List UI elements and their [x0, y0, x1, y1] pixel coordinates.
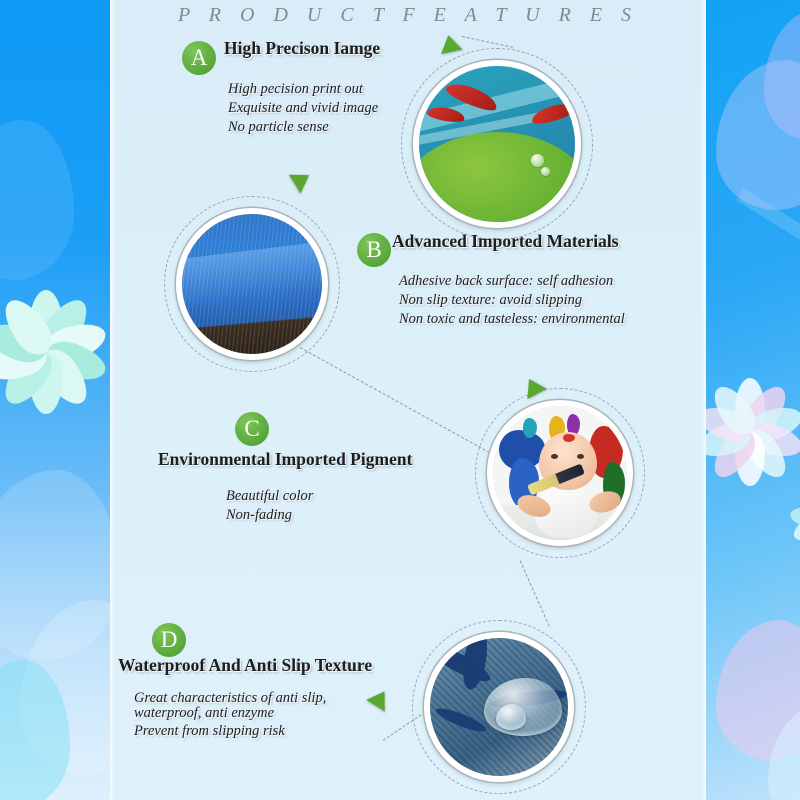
petal-blob [0, 120, 74, 280]
blue-fabric-material-photo [182, 214, 322, 354]
feature-badge-b: B [357, 233, 391, 267]
left-decorative-band [0, 0, 110, 800]
page-title: P R O D U C T F E A T U R E S [116, 4, 700, 27]
baby-eye [577, 454, 584, 459]
feature-photo-b [176, 208, 328, 360]
product-features-infographic: P R O D U C T F E A T U R E S A High Pre… [0, 0, 800, 800]
feature-photo-d [424, 632, 574, 782]
feature-line-d-3: Prevent from slipping risk [134, 722, 285, 741]
feature-badge-a: A [182, 41, 216, 75]
feature-line-b-2: Non slip texture: avoid slipping [399, 291, 582, 310]
feature-heading-b: Advanced Imported Materials [392, 231, 619, 252]
feature-heading-c: Environmental Imported Pigment [158, 449, 412, 470]
feature-heading-d: Waterproof And Anti Slip Texture [118, 655, 372, 676]
right-band-edge-highlight [700, 0, 706, 800]
baby-painting-photo [493, 406, 627, 540]
feature-photo-a [413, 60, 581, 228]
lily-pad [419, 132, 575, 222]
feature-badge-d: D [152, 623, 186, 657]
feature-badge-c: C [235, 412, 269, 446]
baby-eye [551, 454, 558, 459]
diagonal-stripe [736, 188, 800, 401]
right-decorative-band [706, 0, 800, 800]
feature-line-c-2: Non-fading [226, 506, 292, 525]
water-droplet-surface-photo [430, 638, 568, 776]
feature-line-b-3: Non toxic and tasteless: environmental [399, 310, 625, 329]
large-water-bead [484, 678, 562, 736]
feature-line-a-3: No particle sense [228, 118, 329, 137]
fabric-weave-texture [182, 214, 322, 354]
feature-line-b-1: Adhesive back surface: self adhesion [399, 272, 613, 291]
water-droplet [541, 167, 550, 176]
water-droplet [531, 154, 544, 167]
feature-heading-a: High Precison Iamge [224, 38, 380, 59]
feature-line-c-1: Beautiful color [226, 487, 313, 506]
feature-line-a-1: High pecision print out [228, 80, 363, 99]
feature-photo-c [487, 400, 633, 546]
small-water-bead [496, 704, 526, 730]
feature-line-a-2: Exquisite and vivid image [228, 99, 378, 118]
feature-line-d-2: waterproof, anti enzyme [134, 704, 274, 723]
koi-fish-print-photo [419, 66, 575, 222]
